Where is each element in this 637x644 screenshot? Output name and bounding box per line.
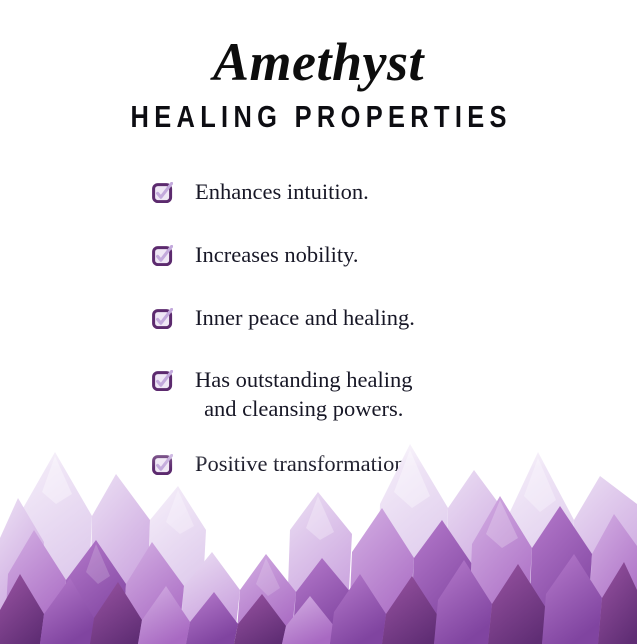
list-item-label: Increases nobility. <box>195 241 359 270</box>
checked-checkbox-icon <box>152 245 173 266</box>
checked-checkbox-icon <box>152 370 173 391</box>
list-item: Inner peace and healing. <box>152 304 572 333</box>
checked-checkbox-icon <box>152 182 173 203</box>
list-item: Enhances intuition. <box>152 178 572 207</box>
amethyst-crystal-cluster <box>0 434 637 644</box>
page-header: Amethyst HEALING PROPERTIES <box>0 34 637 135</box>
page-title: Amethyst <box>0 34 637 91</box>
checked-checkbox-icon <box>152 308 173 329</box>
list-item-label: Has outstanding healing and cleansing po… <box>195 366 412 424</box>
crystal-illustration <box>0 434 637 644</box>
list-item: Increases nobility. <box>152 241 572 270</box>
list-item-label: Inner peace and healing. <box>195 304 415 333</box>
list-item: Has outstanding healing and cleansing po… <box>152 366 572 424</box>
poster-canvas: Amethyst HEALING PROPERTIES Enhances int… <box>0 0 637 644</box>
list-item-label: Enhances intuition. <box>195 178 369 207</box>
page-subtitle: HEALING PROPERTIES <box>57 99 579 135</box>
